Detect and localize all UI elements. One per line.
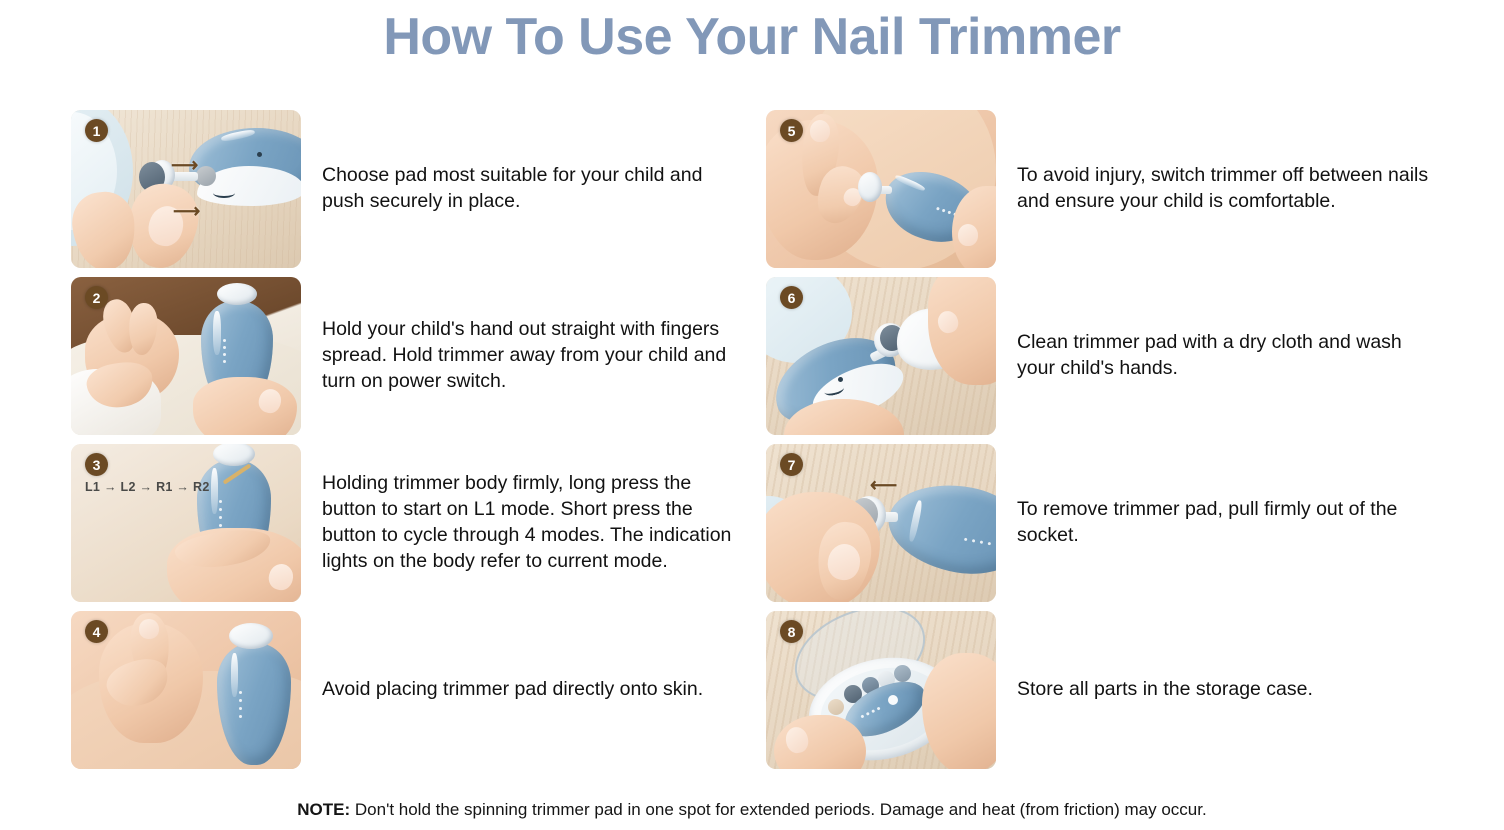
step-text-8: Store all parts in the storage case.: [996, 611, 1451, 769]
trimmer-eye: [257, 152, 262, 157]
step-badge: 6: [780, 286, 803, 309]
step-description: Avoid placing trimmer pad directly onto …: [322, 677, 703, 703]
trimmer-eye: [838, 377, 843, 382]
arrow-icon: ⟶: [171, 156, 198, 175]
step-text-4: Avoid placing trimmer pad directly onto …: [301, 611, 766, 769]
trimmer-smile: [213, 188, 235, 198]
trimmer-pad: [229, 623, 273, 649]
step-description: Store all parts in the storage case.: [1017, 677, 1313, 703]
trimmer-highlight: [213, 311, 221, 355]
power-button: [888, 695, 898, 705]
child-nail: [139, 619, 159, 639]
adult-hand-grip: [193, 377, 297, 435]
step-badge: 7: [780, 453, 803, 476]
step-description: Choose pad most suitable for your child …: [322, 163, 748, 215]
storage-pad: [828, 699, 844, 715]
step-badge: 4: [85, 620, 108, 643]
adult-nail: [958, 224, 978, 246]
indicator-lights: [219, 500, 222, 527]
steps-grid: ⟶ ⟶ 1 Choose pad most suitable for your …: [71, 110, 1451, 769]
step-description: Hold your child's hand out straight with…: [322, 317, 748, 395]
step-description: To avoid injury, switch trimmer off betw…: [1017, 163, 1433, 215]
note-text: Don't hold the spinning trimmer pad in o…: [350, 800, 1207, 819]
trimmer-highlight: [231, 653, 238, 697]
step-description: Holding trimmer body firmly, long press …: [322, 471, 748, 575]
step-photo-2: 2: [71, 277, 301, 435]
footer-note: NOTE: Don't hold the spinning trimmer pa…: [0, 800, 1504, 820]
step-description: Clean trimmer pad with a dry cloth and w…: [1017, 330, 1433, 382]
storage-pad: [894, 665, 911, 682]
child-nail: [810, 120, 830, 142]
step-photo-5: 5: [766, 110, 996, 268]
step-text-2: Hold your child's hand out straight with…: [301, 277, 766, 435]
step-photo-7: ⟵ 7: [766, 444, 996, 602]
step-text-6: Clean trimmer pad with a dry cloth and w…: [996, 277, 1451, 435]
step-badge: 2: [85, 286, 108, 309]
indicator-lights: [223, 339, 226, 363]
arrow-icon: ⟵: [870, 476, 897, 495]
note-label: NOTE:: [297, 800, 350, 819]
step-badge: 8: [780, 620, 803, 643]
step-text-5: To avoid injury, switch trimmer off betw…: [996, 110, 1451, 268]
step-badge: 3: [85, 453, 108, 476]
indicator-lights: [239, 691, 242, 718]
step-text-3: Holding trimmer body firmly, long press …: [301, 444, 766, 602]
step-badge: 5: [780, 119, 803, 142]
trimmer-highlight: [211, 468, 218, 514]
step-text-1: Choose pad most suitable for your child …: [301, 110, 766, 268]
page-title: How To Use Your Nail Trimmer: [0, 8, 1504, 68]
mode-sequence-label: L1 → L2 → R1 → R2: [85, 480, 210, 494]
step-photo-3: 3 L1 → L2 → R1 → R2: [71, 444, 301, 602]
trimmer-pad: [858, 172, 882, 202]
step-description: To remove trimmer pad, pull firmly out o…: [1017, 497, 1433, 549]
step-photo-8: 8: [766, 611, 996, 769]
trimmer-pad: [217, 283, 257, 305]
step-photo-6: 6: [766, 277, 996, 435]
step-badge: 1: [85, 119, 108, 142]
step-text-7: To remove trimmer pad, pull firmly out o…: [996, 444, 1451, 602]
trimmer-socket: [196, 166, 216, 186]
step-photo-4: 4: [71, 611, 301, 769]
step-photo-1: ⟶ ⟶ 1: [71, 110, 301, 268]
adult-hand-right: [922, 653, 996, 769]
arrow-icon: ⟶: [173, 202, 200, 221]
